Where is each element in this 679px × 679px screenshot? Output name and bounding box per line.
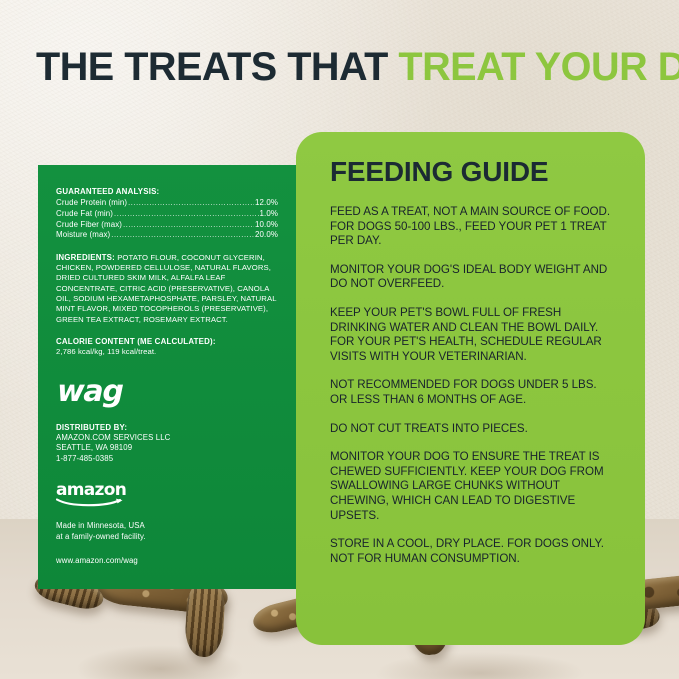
made-in-section: Made in Minnesota, USA at a family-owned… (56, 521, 278, 542)
ingredients-heading: INGREDIENTS: (56, 253, 115, 262)
wag-logo: wag (57, 377, 279, 407)
ingredients-section: INGREDIENTS: POTATO FLOUR, COCONUT GLYCE… (56, 253, 278, 325)
amazon-wordmark: amazon (56, 482, 134, 499)
made-in-line: at a family-owned facility. (56, 532, 278, 542)
analysis-row: Moisture (max) .........................… (56, 230, 278, 241)
calorie-content-heading: CALORIE CONTENT (ME CALCULATED): (56, 337, 278, 347)
distributed-by-heading: DISTRIBUTED BY: (56, 423, 278, 433)
distributed-by-section: DISTRIBUTED BY: AMAZON.COM SERVICES LLC … (56, 423, 278, 465)
headline-green-text: TREAT YOUR DOG RIGHT (398, 45, 679, 89)
feeding-guide-paragraph: KEEP YOUR PET'S BOWL FULL OF FRESH DRINK… (330, 306, 617, 364)
analysis-row: Crude Fat (min) ........................… (56, 209, 278, 220)
distributor-line: AMAZON.COM SERVICES LLC (56, 433, 278, 443)
ingredients-text: INGREDIENTS: POTATO FLOUR, COCONUT GLYCE… (56, 253, 278, 325)
analysis-nutrient-name: Crude Fat (min) (56, 209, 113, 220)
feeding-guide-paragraph: DO NOT CUT TREATS INTO PIECES. (330, 422, 617, 437)
analysis-nutrient-value: 10.0% (255, 220, 278, 231)
distributor-line: 1-877-485-0385 (56, 454, 278, 464)
nutrition-panel: GUARANTEED ANALYSIS: Crude Protein (min)… (38, 165, 296, 589)
feeding-guide-title: FEEDING GUIDE (330, 158, 617, 186)
page-title: THE TREATS THAT TREAT YOUR DOG RIGHT (36, 47, 646, 87)
guaranteed-analysis-heading: GUARANTEED ANALYSIS: (56, 187, 278, 197)
analysis-leader-dots: ........................................… (123, 220, 254, 231)
ingredients-body: POTATO FLOUR, COCONUT GLYCERIN, CHICKEN,… (56, 253, 276, 324)
amazon-logo: amazon (56, 482, 134, 507)
made-in-line: Made in Minnesota, USA (56, 521, 278, 531)
feeding-guide-paragraph: FEED AS A TREAT, NOT A MAIN SOURCE OF FO… (330, 205, 617, 249)
analysis-row: Crude Protein (min) ....................… (56, 198, 278, 209)
analysis-nutrient-value: 1.0% (260, 209, 278, 220)
analysis-leader-dots: ........................................… (128, 198, 254, 209)
analysis-leader-dots: ........................................… (114, 209, 258, 220)
analysis-nutrient-name: Crude Protein (min) (56, 198, 127, 209)
analysis-nutrient-value: 12.0% (255, 198, 278, 209)
headline-dark-text: THE TREATS THAT (36, 45, 398, 89)
amazon-smile-icon (56, 498, 128, 507)
analysis-nutrient-name: Moisture (max) (56, 230, 110, 241)
feeding-guide-paragraph: MONITOR YOUR DOG TO ENSURE THE TREAT IS … (330, 450, 617, 523)
feeding-guide-panel: FEEDING GUIDE FEED AS A TREAT, NOT A MAI… (296, 132, 645, 645)
calorie-content-body: 2,786 kcal/kg, 119 kcal/treat. (56, 347, 278, 357)
feeding-guide-paragraph: STORE IN A COOL, DRY PLACE. FOR DOGS ONL… (330, 537, 617, 566)
product-label-infographic: THE TREATS THAT TREAT YOUR DOG RIGHT GUA… (0, 0, 679, 679)
distributor-line: SEATTLE, WA 98109 (56, 443, 278, 453)
website-url[interactable]: www.amazon.com/wag (56, 556, 278, 566)
analysis-row: Crude Fiber (max) ......................… (56, 220, 278, 231)
feeding-guide-paragraph: NOT RECOMMENDED FOR DOGS UNDER 5 LBS. OR… (330, 378, 617, 407)
analysis-nutrient-value: 20.0% (255, 230, 278, 241)
feeding-guide-paragraph: MONITOR YOUR DOG'S IDEAL BODY WEIGHT AND… (330, 263, 617, 292)
analysis-nutrient-name: Crude Fiber (max) (56, 220, 122, 231)
guaranteed-analysis-section: GUARANTEED ANALYSIS: Crude Protein (min)… (56, 187, 278, 241)
analysis-leader-dots: ........................................… (111, 230, 254, 241)
feeding-guide-body: FEED AS A TREAT, NOT A MAIN SOURCE OF FO… (330, 205, 617, 566)
calorie-content-section: CALORIE CONTENT (ME CALCULATED): 2,786 k… (56, 337, 278, 358)
